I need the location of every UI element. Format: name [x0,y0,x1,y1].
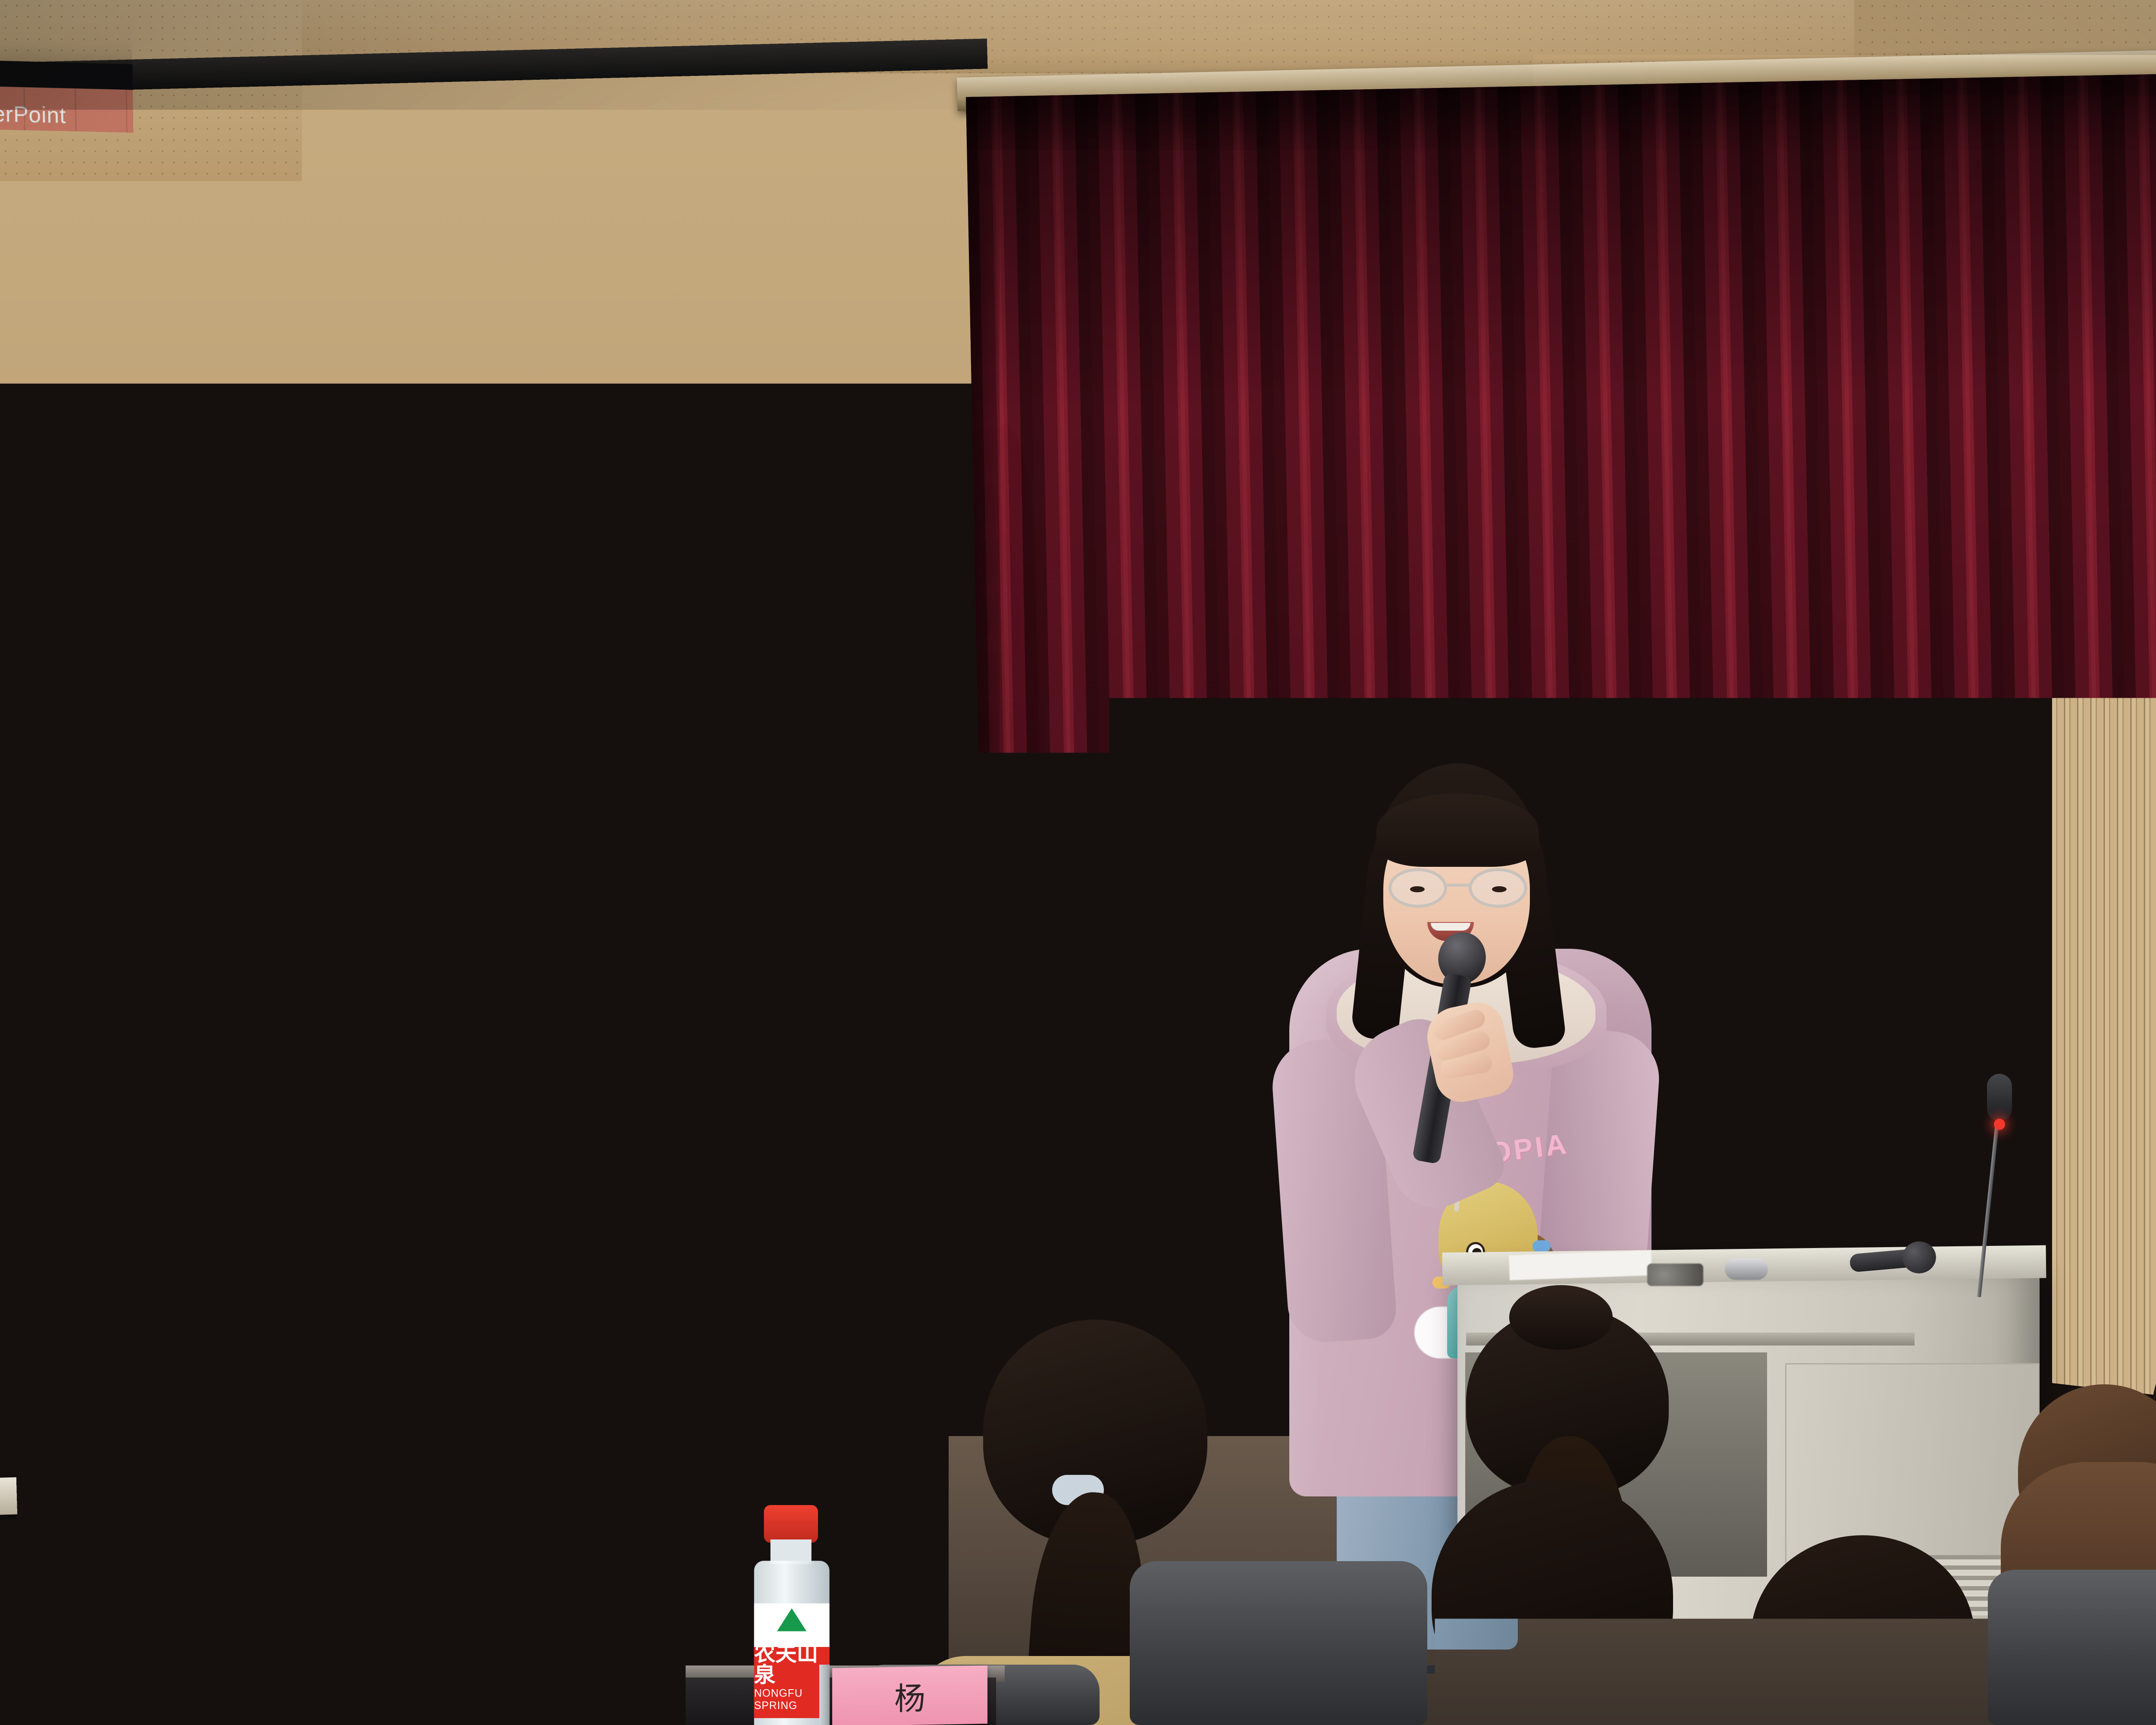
shape-outline-item[interactable]: 形状轮廓 ▾ [448,225,545,249]
arc-shape[interactable] [75,238,112,269]
projection-screen: PowerPoint [0,60,940,1470]
bottle-brand-cn: 农夫山泉 [754,1643,830,1685]
comments-button[interactable]: 批注 [208,1373,266,1400]
microphone-led-indicator [1994,1119,2005,1130]
elbow-arrow-connector-shape[interactable] [111,209,148,240]
zoom-in-button[interactable]: + [784,1347,795,1370]
app-circle-icon[interactable]: ● [499,1400,519,1421]
shape-gallery-expand[interactable] [220,241,257,271]
bottle-cap [764,1505,818,1543]
shape-effects-label: 形状效果 [475,268,536,291]
eyeglass-bridge [1447,884,1470,887]
taskbar-clock[interactable]: 19:15:06 2020/10/25 星期日 [794,1372,915,1413]
shape-outline-label: 形状轮廓 [474,226,535,249]
zoom-slider[interactable]: − + [623,1347,795,1378]
find-item[interactable]: 查找 [613,186,668,210]
nameplate-stand [819,1665,830,1725]
current-slide[interactable]: 学演讲 [0,316,907,1362]
chevron-down-icon[interactable]: ▾ [539,190,545,202]
speaker-eye-left [1410,886,1425,892]
speaker-eyeglasses [1387,868,1529,908]
normal-view-icon [283,1374,302,1394]
ribbon-group-drawing: A A [0,167,281,300]
normal-view-button[interactable] [283,1374,302,1394]
onedrive-icon[interactable]: ☁ [469,1402,489,1423]
notes-icon [132,1381,152,1402]
lecture-hall-photo: PowerPoint [0,0,2156,1725]
quick-styles-icon [384,179,422,218]
system-tray[interactable]: ☁ ● ➤ ◑ 🗀 ⁙ ◀ 🖵 🔊 英 M [469,1386,784,1422]
app-title: PowerPoint [0,100,66,129]
svg-text:A: A [13,188,20,198]
clock-date: 2020/10/25 星期日 [799,1389,915,1412]
rounded-rectangle-shape[interactable] [1,207,38,238]
goose-neck-microphone [1975,1074,2027,1298]
curve-shape[interactable] [112,239,149,270]
clock-time: 19:15:06 [861,1372,915,1392]
speaker-bangs [1376,793,1539,867]
auditorium-seat [1130,1561,1427,1725]
reading-view-button[interactable] [356,1370,375,1390]
zoom-slider-knob[interactable] [669,1356,675,1373]
bottle-brand-en: NONGFU SPRING [754,1687,830,1712]
right-arrow-shape[interactable] [147,210,184,241]
slide-sorter-icon [320,1371,339,1392]
slide-title: 学演讲 [0,557,178,673]
reading-view-icon [356,1370,375,1390]
comments-label: 批注 [232,1373,266,1399]
slide-sorter-button[interactable] [320,1371,339,1392]
find-label: 查找 [639,187,669,210]
replace-label: 替换 [639,229,669,251]
logo-english-arc: Faculty of Psychology [1802,1694,1905,1706]
window-controls[interactable] [731,117,887,144]
chevron-down-icon[interactable]: ▾ [541,274,546,286]
podium-paper-sheet [1509,1250,1652,1280]
paint-bucket-icon [448,184,469,206]
slide-editing-area[interactable]: 学演讲 [0,298,923,1380]
arrange-label: 排列 [307,219,331,251]
ime-language-label[interactable]: 英 [736,1388,755,1408]
nameplate-text: 杨 [894,1673,925,1719]
volume-icon[interactable]: 🔊 [706,1389,726,1410]
svg-text:A: A [57,188,63,199]
faculty-of-psychology-logo: 西南大学心理学部 Ψ Faculty of Psychology [1800,1605,1908,1713]
down-arrow-shape[interactable] [184,210,221,241]
restore-icon[interactable] [821,119,843,142]
quick-styles-label: 快速样式 [392,220,415,284]
pen-outline-icon [448,226,469,247]
bottle-mountain-logo [777,1608,806,1631]
fit-slide-to-window-icon[interactable] [887,1343,906,1364]
replace-item[interactable]: ab ac 替换 ▾ [614,228,680,251]
browser-icon[interactable]: ◑ [559,1397,578,1418]
zoom-slider-track[interactable] [644,1359,774,1367]
ribbon-group-label-editing: 编辑 [607,279,812,304]
rectangle-shape[interactable] [147,180,184,210]
scribble-shape[interactable] [38,238,75,269]
desk-nameplate: 杨 [832,1665,987,1725]
arrange-icon [300,178,338,216]
speaker-eye-right [1492,886,1507,892]
line-shape[interactable] [74,179,111,209]
zoom-level-label[interactable]: 77% [841,1345,874,1366]
svg-text:ac: ac [616,240,624,249]
goose-neck-microphone-2 [1862,1074,1914,1298]
slideshow-icon [392,1368,411,1388]
oval-shape[interactable] [184,181,220,211]
network-share-icon[interactable]: ⁙ [618,1394,638,1415]
shape-gallery-scroll-up[interactable] [220,182,257,212]
replace-abc-icon: ab ac [614,229,634,250]
display-icon[interactable]: 🖵 [677,1391,696,1411]
ime-mode-label[interactable]: M [765,1386,784,1407]
notes-label: 备注 [157,1376,191,1402]
flowchart-shape[interactable] [1,238,39,268]
watermark: 西南大学心理学部 Ψ Faculty of Psychology 西南大学心理学… [1800,1605,2156,1713]
watermark-text: 西南大学心理学部团委学生会 [1922,1625,2156,1693]
powerpoint-window: PowerPoint [0,86,924,1457]
podium-keys [1647,1264,1703,1286]
shape-effects-icon [449,268,470,289]
logo-psi-glyph: Ψ [1832,1633,1875,1685]
hair-bun [1509,1285,1613,1350]
podium-wristwatch [1725,1258,1768,1280]
auditorium-seat [1436,1621,1720,1725]
zoom-out-button[interactable]: − [623,1355,634,1378]
chevron-down-icon[interactable]: ▾ [540,232,545,244]
search-icon [613,187,633,208]
text-box-shape[interactable]: A [0,177,38,208]
quick-styles-button[interactable]: 快速样式 [357,179,449,285]
folder-icon[interactable]: 🗀 [589,1395,608,1416]
left-brace-shape[interactable] [148,240,185,270]
close-icon[interactable] [865,120,887,144]
elbow-connector-shape[interactable] [75,209,112,239]
svg-text:ab: ab [615,231,624,240]
line-arrow-shape[interactable] [111,179,148,210]
ribbon-display-options-icon[interactable] [731,117,754,141]
right-brace-shape[interactable] [185,240,221,270]
minimize-icon[interactable] [776,118,799,142]
shape-fill-item[interactable]: 形状填充 ▾ [448,183,545,208]
ribbon-group-editing: 查找 ab ac 替换 ▾ [605,180,813,307]
notes-button[interactable]: 备注 [132,1376,191,1404]
telegram-plane-icon[interactable]: ➤ [529,1398,549,1419]
shape-gallery-scroll-down[interactable] [220,211,257,241]
ribbon-group-label-drawing: 绘图 [0,271,281,297]
logo-chinese-arc: 西南大学心理学部 [1802,1613,1905,1629]
slideshow-button[interactable] [392,1368,411,1388]
chevron-up-icon[interactable]: ◀ [648,1392,667,1413]
chevron-down-icon[interactable]: ▾ [674,234,679,246]
arrange-button[interactable]: 排列 [296,178,342,251]
vertical-text-box-shape[interactable]: A [37,178,74,208]
triangle-shape[interactable] [38,208,75,238]
red-seal-stamp [757,434,791,478]
powerpoint-ribbon: tArt A A [0,163,909,309]
shape-fill-label: 形状填充 [474,184,534,207]
shape-gallery[interactable]: A A [0,174,260,275]
shape-effects-item[interactable]: 形状效果 ▾ [449,267,545,292]
comment-icon [208,1377,227,1398]
